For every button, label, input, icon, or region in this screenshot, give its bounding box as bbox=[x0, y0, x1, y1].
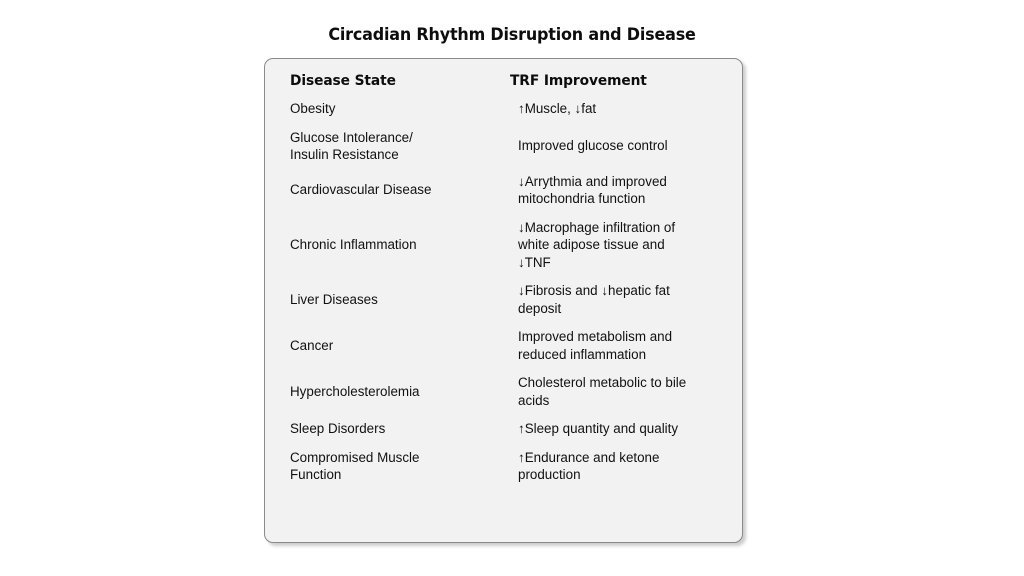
cell-trf-improvement: ↓Macrophage infiltration of white adipos… bbox=[518, 219, 732, 272]
table-row: Chronic Inflammation ↓Macrophage infiltr… bbox=[290, 219, 732, 272]
table-row: Obesity ↑Muscle, ↓fat bbox=[290, 100, 732, 118]
cell-disease-state: Compromised Muscle Function bbox=[290, 449, 518, 484]
cell-trf-improvement: ↓Fibrosis and ↓hepatic fat deposit bbox=[518, 282, 732, 317]
cell-disease-state: Chronic Inflammation bbox=[290, 236, 518, 254]
table-row: Cardiovascular Disease ↓Arrythmia and im… bbox=[290, 173, 732, 208]
cell-disease-state: Liver Diseases bbox=[290, 291, 518, 309]
disease-trf-table-panel: Disease State TRF Improvement Obesity ↑M… bbox=[264, 58, 743, 543]
cell-trf-improvement: ↑Muscle, ↓fat bbox=[518, 100, 732, 118]
column-header-trf-improvement: TRF Improvement bbox=[510, 73, 721, 89]
cell-trf-improvement: Cholesterol metabolic to bile acids bbox=[518, 374, 732, 409]
table-row: Sleep Disorders ↑Sleep quantity and qual… bbox=[290, 420, 732, 438]
table-row: Compromised Muscle Function ↑Endurance a… bbox=[290, 449, 732, 484]
cell-disease-state: Cancer bbox=[290, 337, 518, 355]
cell-trf-improvement: Improved metabolism and reduced inflamma… bbox=[518, 328, 732, 363]
table-row: Hypercholesterolemia Cholesterol metabol… bbox=[290, 374, 732, 409]
page-title: Circadian Rhythm Disruption and Disease bbox=[31, 25, 994, 45]
table-row: Glucose Intolerance/ Insulin Resistance … bbox=[290, 129, 732, 164]
table-row: Liver Diseases ↓Fibrosis and ↓hepatic fa… bbox=[290, 282, 732, 317]
column-header-disease-state: Disease State bbox=[290, 73, 499, 89]
cell-trf-improvement: ↓Arrythmia and improved mitochondria fun… bbox=[518, 173, 732, 208]
table: Disease State TRF Improvement Obesity ↑M… bbox=[290, 73, 732, 484]
cell-trf-improvement: ↑Endurance and ketone production bbox=[518, 449, 732, 484]
cell-disease-state: Obesity bbox=[290, 100, 518, 118]
table-header-row: Disease State TRF Improvement bbox=[290, 73, 732, 89]
cell-trf-improvement: Improved glucose control bbox=[518, 137, 732, 155]
cell-disease-state: Hypercholesterolemia bbox=[290, 383, 518, 401]
cell-disease-state: Sleep Disorders bbox=[290, 420, 518, 438]
cell-trf-improvement: ↑Sleep quantity and quality bbox=[518, 420, 732, 438]
cell-disease-state: Cardiovascular Disease bbox=[290, 181, 518, 199]
table-row: Cancer Improved metabolism and reduced i… bbox=[290, 328, 732, 363]
cell-disease-state: Glucose Intolerance/ Insulin Resistance bbox=[290, 129, 518, 164]
